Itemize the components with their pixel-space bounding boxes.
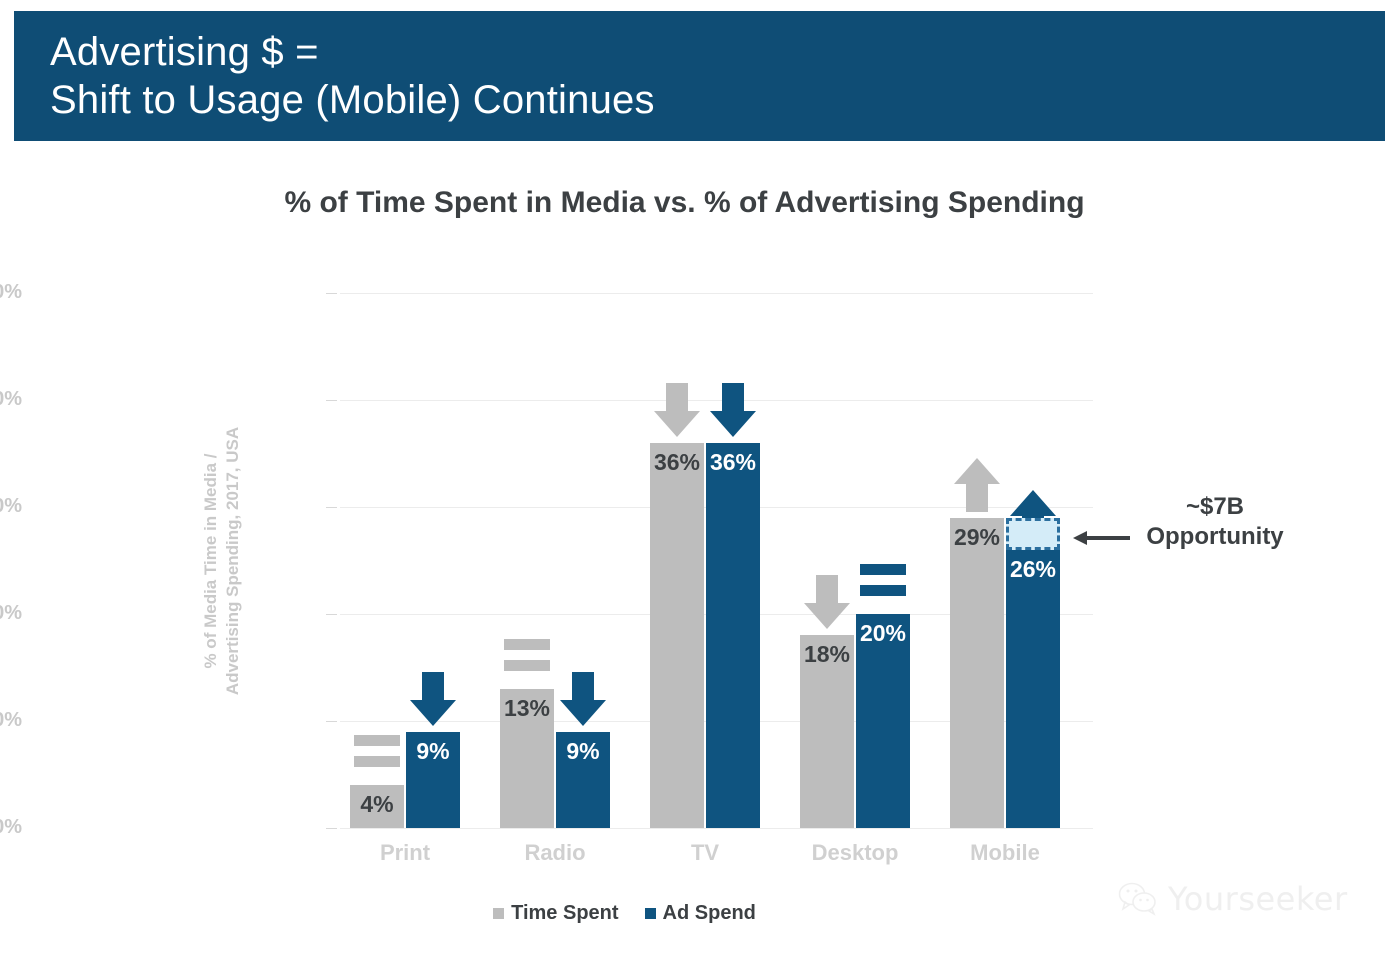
y-axis-tick-mark bbox=[326, 507, 337, 508]
trend-flat-icon bbox=[350, 723, 404, 781]
x-axis-label-tv: TV bbox=[630, 840, 780, 866]
bar-desktop-time-spent[interactable]: 18% bbox=[800, 635, 854, 828]
watermark-text: Yourseeker bbox=[1168, 880, 1348, 918]
bar-radio-time-spent[interactable]: 13% bbox=[500, 689, 554, 828]
y-axis-tick-label: 40% bbox=[0, 388, 22, 411]
chart-title: % of Time Spent in Media vs. % of Advert… bbox=[0, 186, 1399, 220]
gridline bbox=[340, 828, 1093, 829]
trend-flat-icon bbox=[500, 627, 554, 685]
wechat-icon bbox=[1118, 882, 1158, 916]
opportunity-label: Opportunity bbox=[1100, 522, 1330, 552]
bar-value-label: 36% bbox=[706, 449, 760, 476]
opportunity-box bbox=[1006, 518, 1060, 550]
bar-mobile-time-spent[interactable]: 29% bbox=[950, 518, 1004, 828]
bar-mobile-ad-spend[interactable]: 26% bbox=[1006, 550, 1060, 828]
y-axis-title: % of Media Time in Media / Advertising S… bbox=[192, 293, 252, 828]
bar-desktop-ad-spend[interactable]: 20% bbox=[856, 614, 910, 828]
x-axis-label-desktop: Desktop bbox=[780, 840, 930, 866]
bar-radio-ad-spend[interactable]: 9% bbox=[556, 732, 610, 828]
trend-down-icon bbox=[706, 381, 760, 439]
legend-label: Ad Spend bbox=[663, 902, 756, 925]
y-axis-tick-label: 10% bbox=[0, 709, 22, 732]
plot-area: 0%10%20%30%40%50% 4%9%13%9%36%36%18%20%2… bbox=[340, 293, 1093, 828]
legend-label: Time Spent bbox=[511, 902, 618, 925]
x-axis-label-print: Print bbox=[330, 840, 480, 866]
bar-value-label: 18% bbox=[800, 641, 854, 668]
header-title-line-1: Advertising $ = bbox=[50, 28, 1385, 76]
watermark: Yourseeker bbox=[1118, 880, 1348, 918]
y-axis-title-line-1: % of Media Time in Media / bbox=[200, 426, 222, 694]
bar-value-label: 36% bbox=[650, 449, 704, 476]
header-title-line-2: Shift to Usage (Mobile) Continues bbox=[50, 76, 1385, 124]
y-axis-title-line-2: Advertising Spending, 2017, USA bbox=[222, 426, 244, 694]
legend-item-ad-spend[interactable]: Ad Spend bbox=[645, 902, 756, 925]
gridline bbox=[340, 293, 1093, 294]
bar-tv-ad-spend[interactable]: 36% bbox=[706, 443, 760, 828]
legend-swatch bbox=[645, 908, 656, 919]
bar-value-label: 26% bbox=[1006, 556, 1060, 583]
y-axis-tick-mark bbox=[326, 293, 337, 294]
y-axis-tick-label: 30% bbox=[0, 495, 22, 518]
trend-down-icon bbox=[800, 573, 854, 631]
bar-print-ad-spend[interactable]: 9% bbox=[406, 732, 460, 828]
bar-value-label: 20% bbox=[856, 620, 910, 647]
y-axis-tick-mark bbox=[326, 614, 337, 615]
legend-swatch bbox=[493, 908, 504, 919]
x-axis-label-radio: Radio bbox=[480, 840, 630, 866]
trend-down-icon bbox=[406, 670, 460, 728]
bar-value-label: 13% bbox=[500, 695, 554, 722]
trend-down-icon bbox=[650, 381, 704, 439]
y-axis-tick-mark bbox=[326, 828, 337, 829]
bar-value-label: 9% bbox=[406, 738, 460, 765]
bar-tv-time-spent[interactable]: 36% bbox=[650, 443, 704, 828]
bar-value-label: 9% bbox=[556, 738, 610, 765]
trend-down-icon bbox=[556, 670, 610, 728]
opportunity-amount: ~$7B bbox=[1100, 492, 1330, 522]
x-axis-label-mobile: Mobile bbox=[930, 840, 1080, 866]
trend-up-icon bbox=[950, 456, 1004, 514]
chart-title-text: % of Time Spent in Media vs. % of Advert… bbox=[284, 186, 1084, 220]
header-banner: Advertising $ = Shift to Usage (Mobile) … bbox=[14, 11, 1385, 141]
bar-value-label: 29% bbox=[950, 524, 1004, 551]
y-axis-tick-label: 20% bbox=[0, 602, 22, 625]
y-axis-tick-label: 0% bbox=[0, 816, 22, 839]
y-axis-tick-label: 50% bbox=[0, 281, 22, 304]
bar-print-time-spent[interactable]: 4% bbox=[350, 785, 404, 828]
bar-value-label: 4% bbox=[350, 791, 404, 818]
opportunity-annotation: ~$7B Opportunity bbox=[1100, 492, 1330, 552]
trend-flat-icon bbox=[856, 552, 910, 610]
y-axis-tick-mark bbox=[326, 400, 337, 401]
legend-item-time-spent[interactable]: Time Spent bbox=[493, 902, 618, 925]
y-axis-tick-mark bbox=[326, 721, 337, 722]
